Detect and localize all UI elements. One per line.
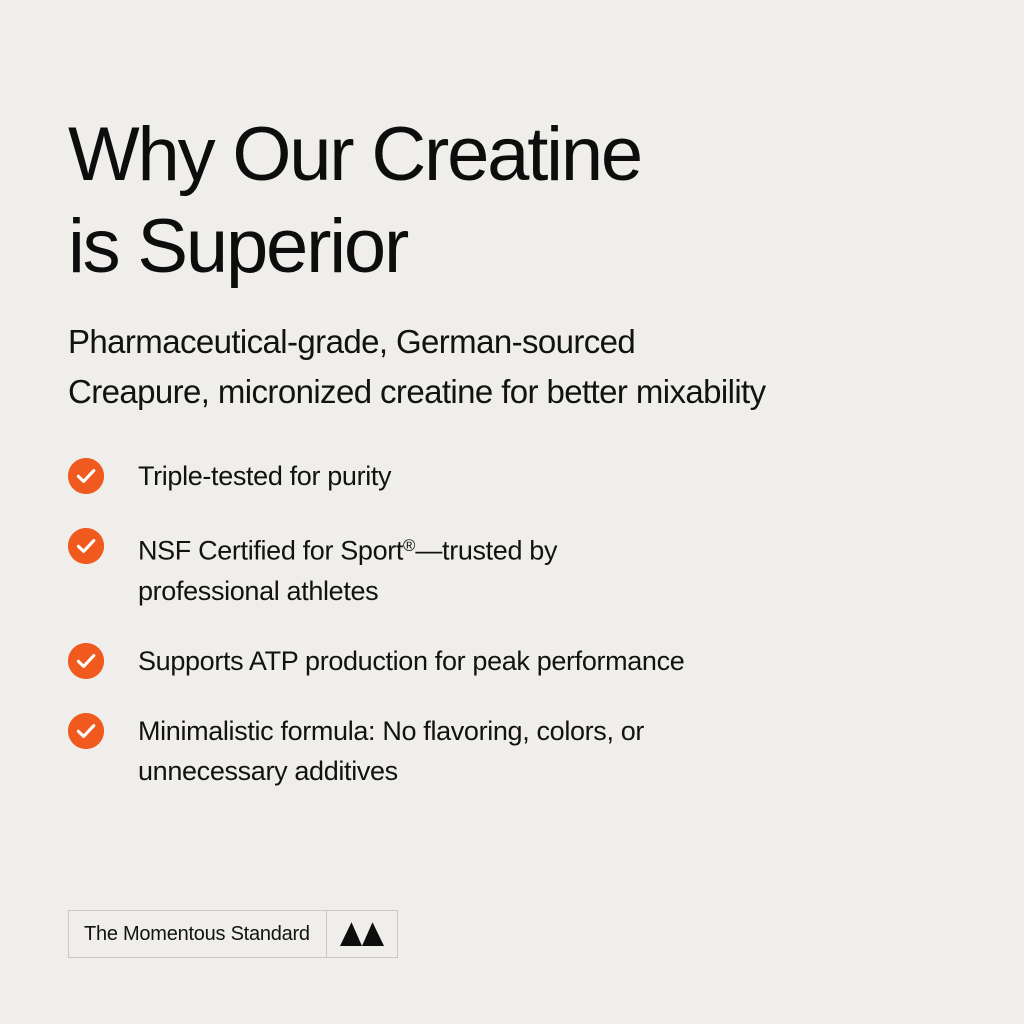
benefit-label: Supports ATP production for peak perform…	[138, 640, 684, 681]
momentous-standard-badge: The Momentous Standard	[68, 910, 398, 958]
benefit-label-main: NSF Certified for Sport	[138, 536, 403, 566]
momentous-mountain-logo-icon	[326, 911, 397, 957]
page-title: Why Our Creatine is Superior	[68, 109, 948, 293]
benefit-label: Minimalistic formula: No flavoring, colo…	[138, 710, 644, 791]
creatine-benefits-card: Why Our Creatine is Superior Pharmaceuti…	[0, 0, 1024, 1024]
benefit-label: NSF Certified for Sport®—trusted by prof…	[138, 525, 557, 611]
check-circle-icon	[68, 643, 104, 679]
list-item: Minimalistic formula: No flavoring, colo…	[68, 710, 968, 791]
check-circle-icon	[68, 713, 104, 749]
check-circle-icon	[68, 528, 104, 564]
benefit-label: Triple-tested for purity	[138, 455, 391, 496]
benefits-list: Triple-tested for purity NSF Certified f…	[68, 455, 968, 791]
check-circle-icon	[68, 458, 104, 494]
subtitle: Pharmaceutical-grade, German-sourced Cre…	[68, 317, 988, 417]
list-item: Triple-tested for purity	[68, 455, 968, 496]
list-item: NSF Certified for Sport®—trusted by prof…	[68, 525, 968, 611]
momentous-standard-label: The Momentous Standard	[69, 911, 326, 957]
registered-trademark-symbol: ®	[403, 536, 415, 555]
list-item: Supports ATP production for peak perform…	[68, 640, 968, 681]
